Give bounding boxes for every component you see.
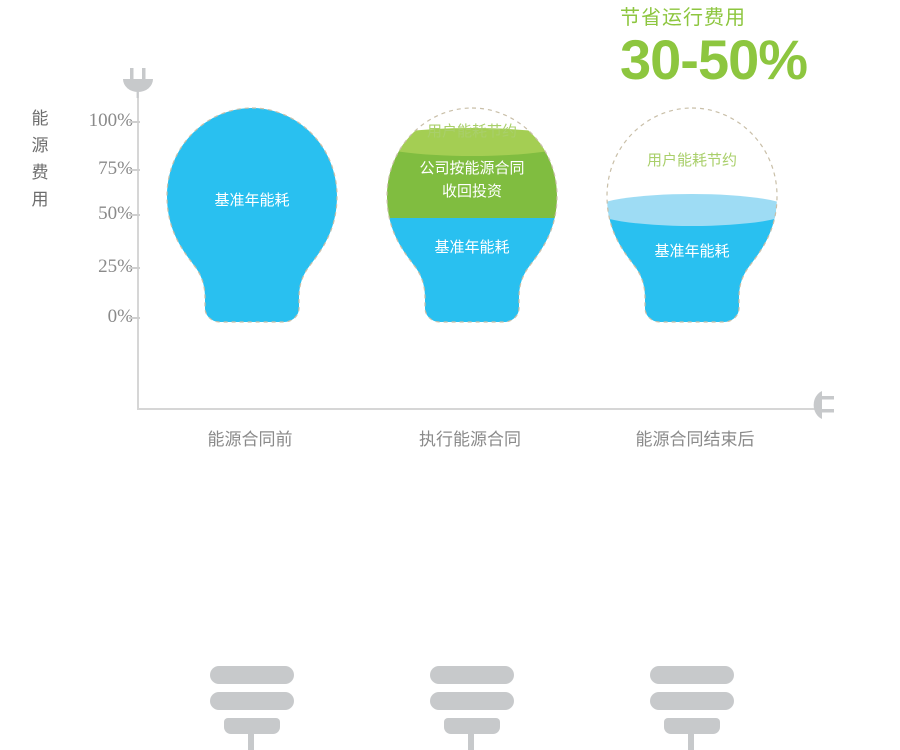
y-tick-mark — [129, 267, 140, 269]
y-axis-line — [137, 92, 139, 410]
y-axis-ticks: 100% 75% 50% 25% 0% — [55, 0, 133, 473]
power-plug-icon — [800, 388, 834, 427]
y-tick-label-50: 50% — [63, 203, 133, 225]
bulb-screw-ring — [430, 666, 514, 684]
x-label-stage-3: 能源合同结束后 — [590, 425, 800, 450]
bulb-screw-ring — [210, 666, 294, 684]
y-tick-mark — [129, 121, 140, 123]
y-tick-label-25: 25% — [63, 256, 133, 278]
bulb-stage-3: 用户能耗节约 基准年能耗 — [592, 92, 792, 422]
infographic-canvas: 节省运行费用 30-50% 能源费用 100% 75% 50% 25% 0% 能… — [0, 0, 900, 473]
y-tick-label-0: 0% — [63, 306, 133, 328]
y-tick-mark — [129, 169, 140, 171]
headline-callout: 节省运行费用 30-50% — [620, 4, 890, 90]
bulb-screw-ring — [210, 692, 294, 710]
bulb-screw-ring — [430, 692, 514, 710]
x-label-stage-1: 能源合同前 — [150, 425, 350, 450]
bulb-stem — [688, 732, 694, 750]
y-tick-label-100: 100% — [63, 110, 133, 132]
headline-value: 30-50% — [620, 30, 890, 90]
bulb-stage-2: 用户能耗节约 公司按能源合同 收回投资 基准年能耗 — [372, 92, 572, 422]
y-axis-title: 能源费用 — [28, 106, 52, 214]
x-label-stage-2: 执行能源合同 — [370, 425, 570, 450]
bulb-stage-1: 基准年能耗 — [152, 92, 352, 422]
bulb-screw-ring — [650, 692, 734, 710]
y-tick-mark — [129, 214, 140, 216]
y-tick-mark — [129, 317, 140, 319]
headline-subtitle: 节省运行费用 — [620, 4, 890, 30]
bulb-stem — [248, 732, 254, 750]
y-tick-label-75: 75% — [63, 158, 133, 180]
bulb-stem — [468, 732, 474, 750]
bulb-screw-ring — [650, 666, 734, 684]
